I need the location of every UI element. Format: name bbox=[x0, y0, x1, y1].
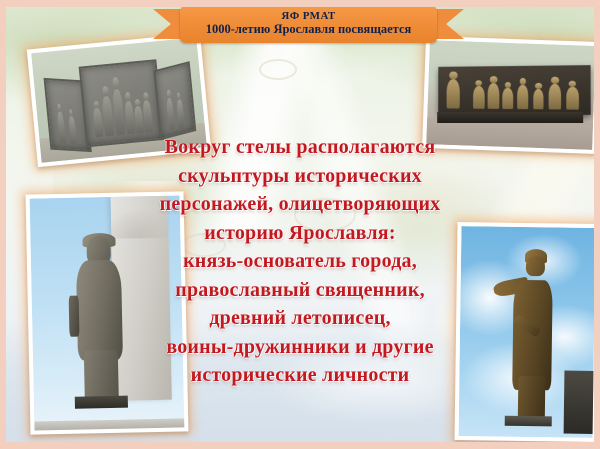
scribe-plinth bbox=[75, 396, 128, 409]
relief-wall-pedestal bbox=[437, 112, 583, 123]
scribe-statue-figure bbox=[63, 236, 136, 409]
scribe-legs bbox=[84, 350, 120, 402]
relief-cube-artwork bbox=[31, 37, 207, 162]
photo-frame-statue-scribe bbox=[26, 191, 189, 434]
scribe-sky bbox=[30, 195, 185, 430]
ribbon-plate: ЯФ РМАТ 1000-летию Ярославля посвящается bbox=[180, 7, 437, 43]
photo-frame-relief-cube bbox=[27, 33, 212, 167]
photo-frame-relief-wall bbox=[422, 36, 594, 154]
scribe-stela-arch bbox=[111, 196, 169, 239]
prince-plinth bbox=[505, 415, 553, 426]
scribe-scroll bbox=[69, 295, 80, 336]
scribe-ground bbox=[34, 418, 184, 430]
prince-legs bbox=[517, 376, 545, 421]
title-ribbon-banner: ЯФ РМАТ 1000-летию Ярославля посвящается bbox=[156, 7, 461, 45]
slide-canvas: Вокруг стелы располагаются скульптуры ис… bbox=[6, 7, 594, 442]
photo-statue-scribe bbox=[30, 195, 185, 430]
slide-root: Вокруг стелы располагаются скульптуры ис… bbox=[0, 0, 600, 449]
prince-background-wall bbox=[563, 370, 594, 433]
relief-wall-artwork bbox=[426, 40, 594, 150]
relief-wall-bronze-panel bbox=[438, 65, 590, 115]
photo-relief-cube bbox=[31, 37, 207, 162]
photo-statue-prince bbox=[459, 226, 594, 438]
prince-statue-figure bbox=[494, 252, 566, 425]
prince-sky bbox=[459, 226, 594, 438]
scribe-body bbox=[76, 260, 122, 360]
relief-cube-panel-main bbox=[79, 59, 163, 147]
photo-relief-wall bbox=[426, 40, 594, 150]
photo-frame-statue-prince bbox=[454, 222, 594, 442]
banner-title-line-1: ЯФ РМАТ bbox=[281, 11, 335, 23]
relief-cube-panel-right bbox=[153, 62, 196, 141]
banner-title-line-2: 1000-летию Ярославля посвящается bbox=[206, 23, 412, 37]
prince-head bbox=[526, 256, 544, 277]
